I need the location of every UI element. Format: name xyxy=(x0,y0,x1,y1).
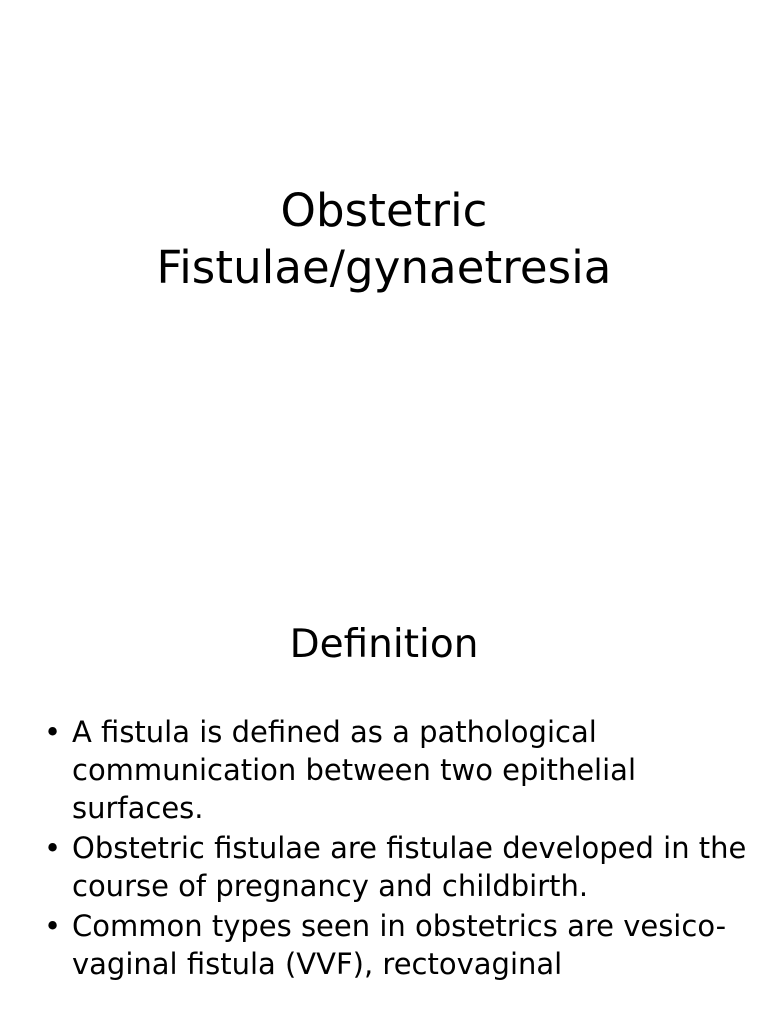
list-item-text: Common types seen in obstetrics are vesi… xyxy=(72,907,748,983)
list-item: • Obstetric fistulae are fistulae develo… xyxy=(44,829,748,905)
definition-bullet-list: • A fistula is defined as a pathological… xyxy=(44,713,748,985)
slide-title-line-1: Obstetric xyxy=(0,182,768,239)
bullet-dot-icon: • xyxy=(44,829,72,867)
list-item: • A fistula is defined as a pathological… xyxy=(44,713,748,827)
list-item-text: A fistula is defined as a pathological c… xyxy=(72,713,748,827)
slide-title: Obstetric Fistulae/gynaetresia xyxy=(0,182,768,296)
bullet-dot-icon: • xyxy=(44,907,72,945)
list-item-text: Obstetric fistulae are fistulae develope… xyxy=(72,829,748,905)
section-heading-definition: Definition xyxy=(0,620,768,670)
bullet-dot-icon: • xyxy=(44,713,72,751)
slide-title-line-2: Fistulae/gynaetresia xyxy=(0,239,768,296)
list-item: • Common types seen in obstetrics are ve… xyxy=(44,907,748,983)
slide-page: Obstetric Fistulae/gynaetresia Definitio… xyxy=(0,0,768,1024)
